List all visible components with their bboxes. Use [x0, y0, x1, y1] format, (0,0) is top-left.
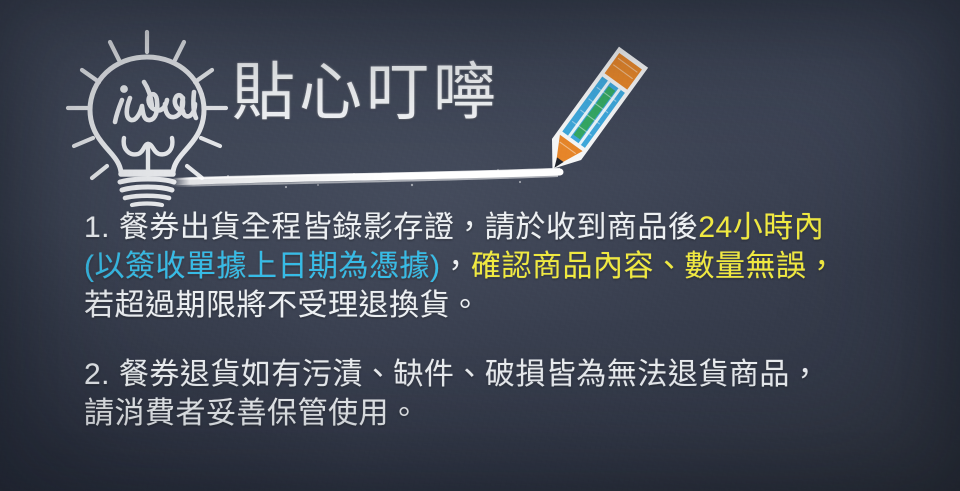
chalk-underline — [168, 158, 588, 198]
note-1-line-3: 若超過期限將不受理退換貨。 — [84, 286, 944, 325]
note-1-highlight-confirm: 確認商品內容、數量無誤， — [471, 250, 837, 283]
paragraph-spacer — [84, 325, 944, 355]
page-title: 貼心叮嚀 — [232, 62, 500, 125]
pencil-icon — [528, 38, 658, 188]
note-1-comma: ， — [440, 250, 471, 283]
note-1-line-2: (以簽收單據上日期為憑據)，確認商品內容、數量無誤， — [84, 247, 944, 286]
note-1-highlight-receipt-date: (以簽收單據上日期為憑據) — [84, 250, 440, 283]
note-2-line-1: 2. 餐券退貨如有污漬、缺件、破損皆為無法退貨商品， — [84, 355, 944, 394]
note-1-line-1: 1. 餐券出貨全程皆錄影存證，請於收到商品後24小時內 — [84, 208, 944, 247]
note-1-highlight-24h: 24小時內 — [698, 211, 824, 244]
note-2-line-2: 請消費者妥善保管使用。 — [84, 394, 944, 433]
slide-canvas: 貼心叮嚀 1. 餐券出貨全程皆錄影存證，請於收到商品後24小時內 (以簽收單據上… — [0, 0, 960, 491]
note-1-text-a: 1. 餐券出貨全程皆錄影存證，請於收到商品後 — [84, 211, 698, 244]
notes-body: 1. 餐券出貨全程皆錄影存證，請於收到商品後24小時內 (以簽收單據上日期為憑據… — [84, 208, 944, 433]
